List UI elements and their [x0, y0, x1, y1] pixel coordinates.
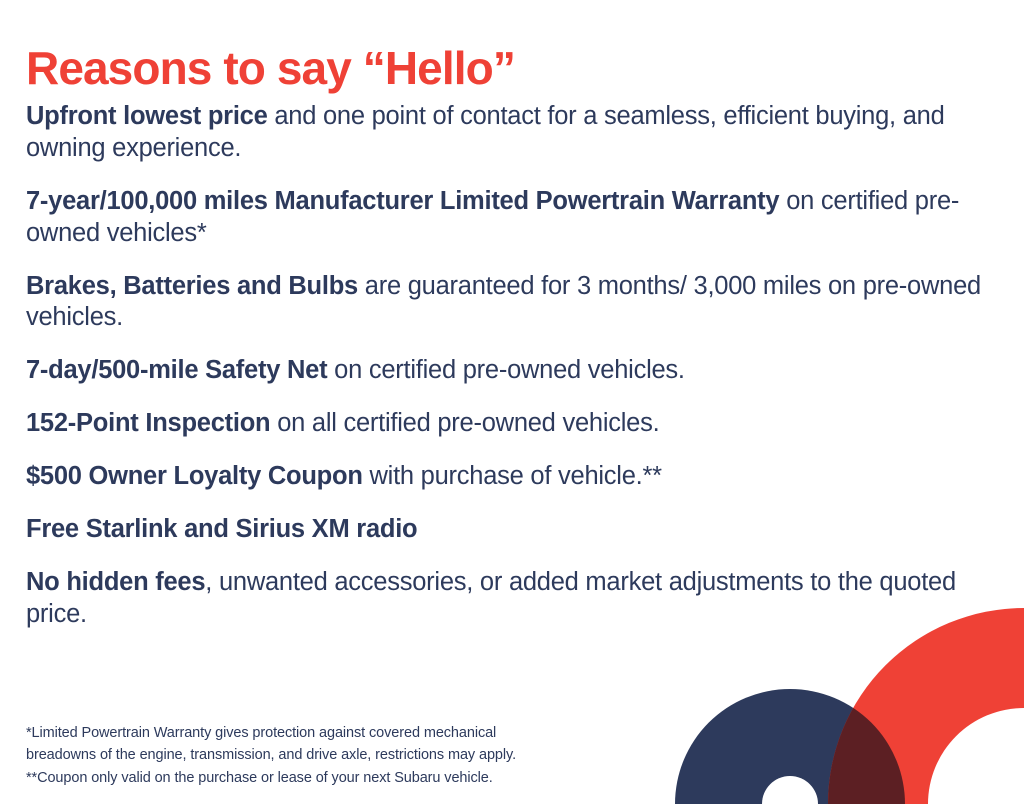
benefit-item-152-point-inspection: 152-Point Inspection on all certified pr…	[26, 408, 991, 440]
benefit-detail-safety-net: on certified pre-owned vehicles.	[327, 356, 684, 384]
benefit-lead-no-hidden-fees: No hidden fees	[26, 568, 205, 596]
benefit-item-safety-net: 7-day/500-mile Safety Net on certified p…	[26, 355, 991, 387]
benefit-item-owner-loyalty-coupon: $500 Owner Loyalty Coupon with purchase …	[26, 461, 991, 493]
benefit-lead-powertrain-warranty: 7-year/100,000 miles Manufacturer Limite…	[26, 187, 779, 215]
page-title: Reasons to say “Hello”	[26, 43, 515, 94]
benefit-lead-free-starlink-sirius: Free Starlink and Sirius XM radio	[26, 515, 417, 543]
benefits-list: Upfront lowest price and one point of co…	[26, 101, 991, 631]
benefit-lead-brakes-batteries-bulbs: Brakes, Batteries and Bulbs	[26, 272, 358, 300]
footnote-line-3: **Coupon only valid on the purchase or l…	[26, 767, 646, 789]
footnotes: *Limited Powertrain Warranty gives prote…	[26, 722, 646, 789]
benefit-item-no-hidden-fees: No hidden fees, unwanted accessories, or…	[26, 567, 991, 631]
benefit-detail-152-point-inspection: on all certified pre-owned vehicles.	[270, 409, 659, 437]
benefit-item-free-starlink-sirius: Free Starlink and Sirius XM radio	[26, 514, 991, 546]
flyer-page: Reasons to say “Hello” Upfront lowest pr…	[0, 0, 1024, 804]
benefit-detail-owner-loyalty-coupon: with purchase of vehicle.**	[363, 462, 662, 490]
footnote-line-1: *Limited Powertrain Warranty gives prote…	[26, 722, 646, 744]
footnote-line-2: breadowns of the engine, transmission, a…	[26, 744, 646, 766]
benefit-lead-safety-net: 7-day/500-mile Safety Net	[26, 356, 327, 384]
benefit-item-brakes-batteries-bulbs: Brakes, Batteries and Bulbs are guarante…	[26, 271, 991, 335]
benefit-lead-upfront-lowest-price: Upfront lowest price	[26, 102, 268, 130]
benefit-item-powertrain-warranty: 7-year/100,000 miles Manufacturer Limite…	[26, 186, 991, 250]
benefit-lead-152-point-inspection: 152-Point Inspection	[26, 409, 270, 437]
benefit-lead-owner-loyalty-coupon: $500 Owner Loyalty Coupon	[26, 462, 363, 490]
benefit-item-upfront-lowest-price: Upfront lowest price and one point of co…	[26, 101, 991, 165]
